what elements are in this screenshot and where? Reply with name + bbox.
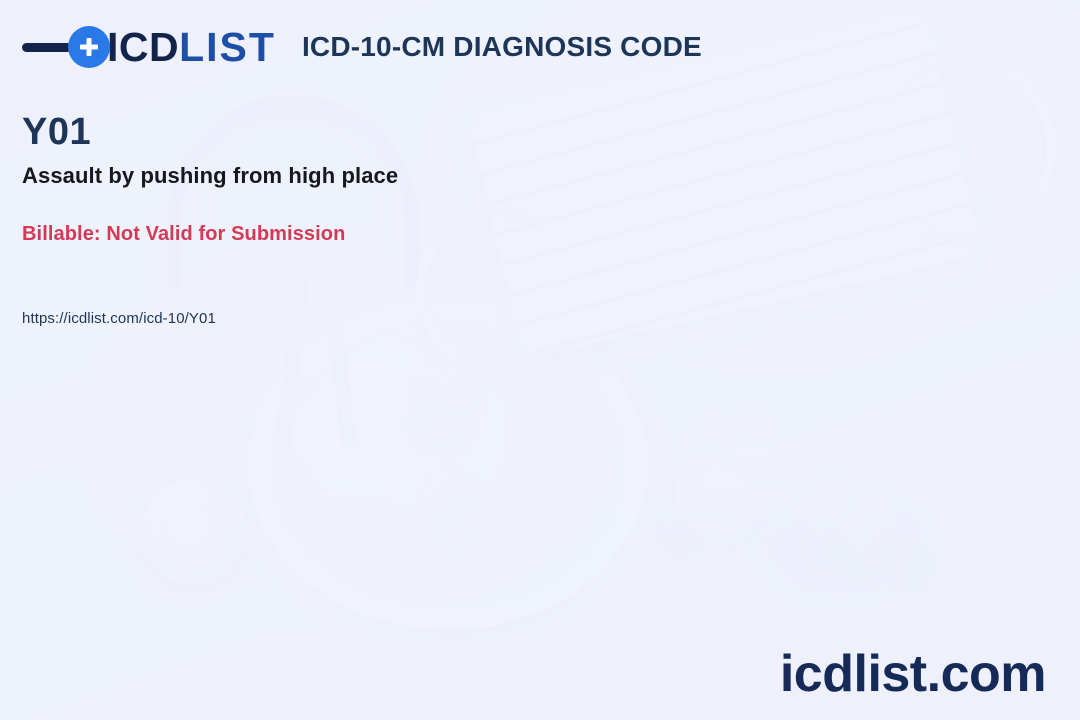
icdlist-logo[interactable]: ICDLIST: [22, 26, 276, 68]
page-title: ICD-10-CM DIAGNOSIS CODE: [302, 31, 702, 63]
logo-word-list: LIST: [179, 24, 276, 70]
diagnosis-code-block: Y01 Assault by pushing from high place B…: [22, 112, 398, 327]
diagnosis-code: Y01: [22, 112, 398, 154]
dash-icon: [22, 43, 72, 52]
billable-status-badge: Billable: Not Valid for Submission: [22, 223, 398, 246]
page-root: ICDLIST ICD-10-CM DIAGNOSIS CODE Y01 Ass…: [0, 0, 1080, 720]
logo-word-icd: ICD: [107, 24, 179, 70]
source-url[interactable]: https://icdlist.com/icd-10/Y01: [22, 310, 398, 327]
footer-brand-watermark: icdlist.com: [780, 648, 1046, 700]
page-header: ICDLIST ICD-10-CM DIAGNOSIS CODE: [22, 26, 702, 68]
diagnosis-description: Assault by pushing from high place: [22, 163, 398, 189]
plus-icon: [68, 26, 110, 68]
logo-wordmark: ICDLIST: [107, 27, 276, 68]
